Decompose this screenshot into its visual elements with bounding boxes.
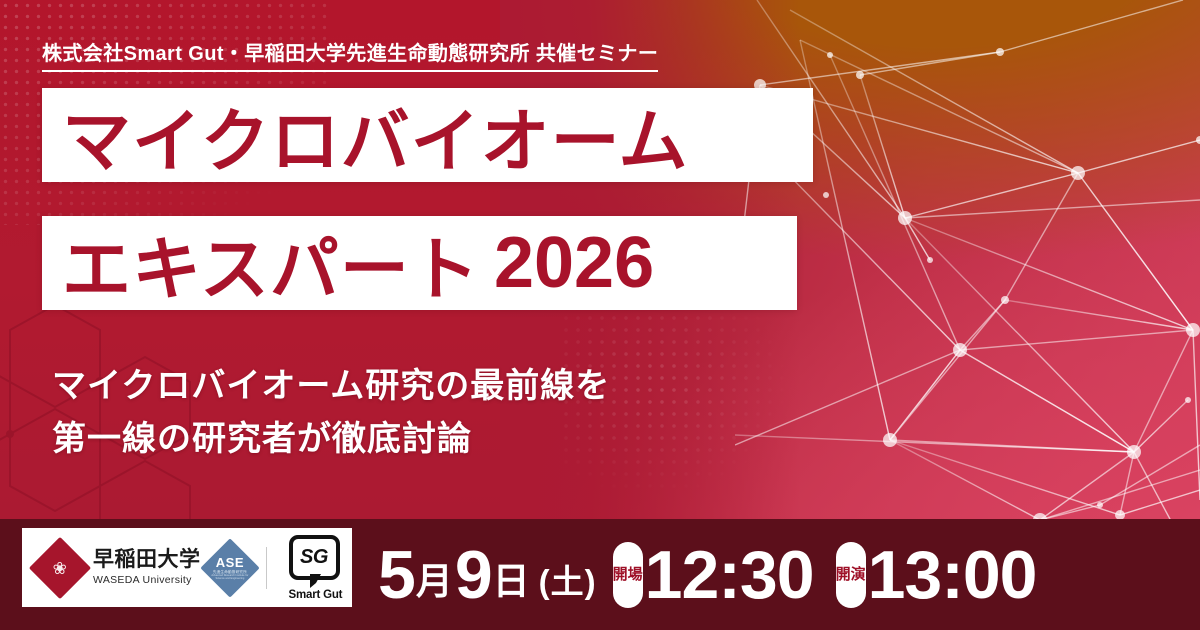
title-line-2: エキスパート 2026: [42, 216, 797, 310]
waseda-name-jp: 早稲田大学: [93, 549, 201, 571]
title-line-1-text: マイクロバイオーム: [62, 85, 689, 185]
subtitle: マイクロバイオーム研究の最前線を 第一線の研究者が徹底討論: [52, 360, 610, 465]
start-time-badge: 開演: [836, 542, 866, 608]
ase-sublabel-jp: 先進生命動態研究所: [209, 570, 251, 574]
start-time: 13:00: [868, 541, 1037, 609]
ase-sublabel-en: Advanced Research Institute for Science …: [209, 574, 251, 579]
ase-label: ASE: [209, 555, 251, 568]
schedule-block: 5 月 9 日 (土) 開場 12:30 開演 13:00: [378, 519, 1036, 630]
title-line-2-text: エキスパート: [62, 213, 480, 313]
logo-divider: [266, 547, 267, 589]
seminar-kicker: 株式会社Smart Gut・早稲田大学先進生命動態研究所 共催セミナー: [42, 42, 658, 72]
doors-open-group: 開場 12:30: [613, 541, 814, 609]
smart-gut-mark-icon: SG: [289, 535, 340, 580]
title-line-1: マイクロバイオーム: [42, 88, 813, 182]
doors-open-badge: 開場: [613, 542, 643, 608]
event-month-unit: 月: [416, 563, 453, 600]
smart-gut-mark-text: SG: [300, 546, 328, 569]
waseda-crest-icon: ❀: [29, 536, 91, 598]
waseda-crest-glyph: ❀: [53, 559, 67, 576]
title-year: 2026: [494, 222, 654, 304]
smart-gut-name: Smart Gut: [289, 589, 343, 601]
waseda-logo-text: 早稲田大学 WASEDA University: [93, 549, 201, 585]
waseda-name-en: WASEDA University: [93, 575, 201, 586]
subtitle-line-1: マイクロバイオーム研究の最前線を: [52, 360, 610, 413]
subtitle-line-2: 第一線の研究者が徹底討論: [52, 413, 610, 466]
event-day: 9: [455, 541, 492, 609]
start-time-group: 開演 13:00: [836, 541, 1037, 609]
event-day-of-week: (土): [539, 565, 597, 598]
smart-gut-logo: SG Smart Gut: [289, 535, 343, 601]
event-day-unit: 日: [493, 563, 530, 600]
logo-plate: ❀ 早稲田大学 WASEDA University ASE 先進生命動態研究所 …: [22, 528, 352, 607]
event-month: 5: [378, 541, 415, 609]
doors-open-time: 12:30: [645, 541, 814, 609]
seminar-poster: 株式会社Smart Gut・早稲田大学先進生命動態研究所 共催セミナー マイクロ…: [0, 0, 1200, 630]
footer-bar: ❀ 早稲田大学 WASEDA University ASE 先進生命動態研究所 …: [0, 519, 1200, 630]
ase-badge-icon: ASE 先進生命動態研究所 Advanced Research Institut…: [200, 538, 259, 597]
